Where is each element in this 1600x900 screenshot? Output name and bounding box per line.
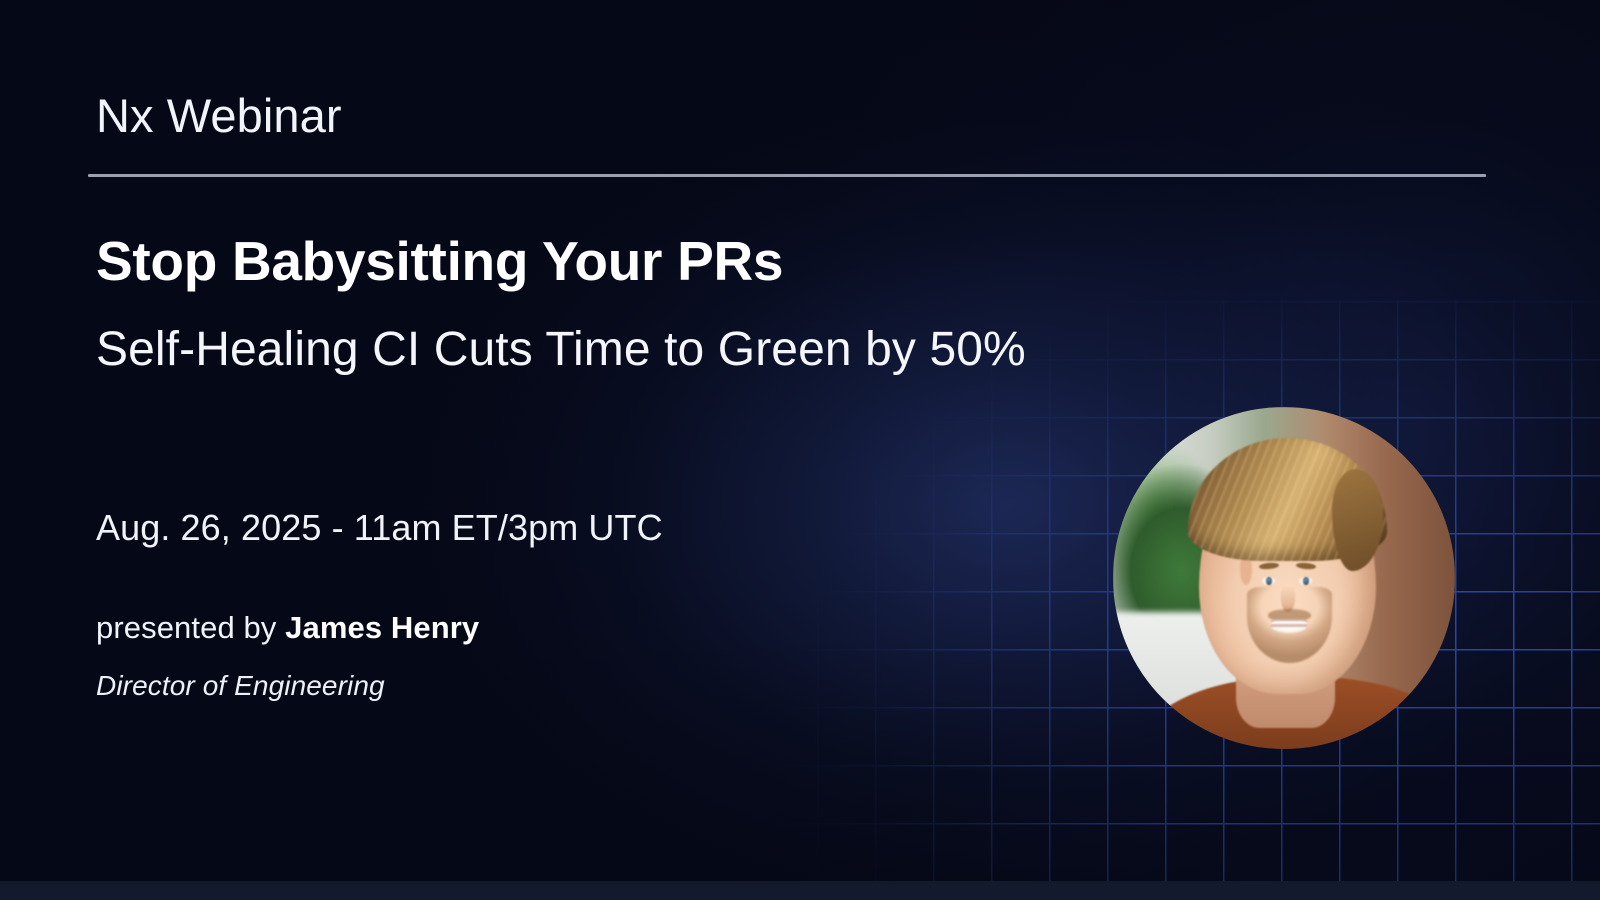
presenter-name: James Henry <box>285 610 479 645</box>
page-title: Stop Babysitting Your PRs <box>96 229 783 294</box>
avatar-eyebrow-right <box>1296 562 1316 570</box>
page-subtitle: Self-Healing CI Cuts Time to Green by 50… <box>96 314 1096 387</box>
avatar <box>1113 407 1455 749</box>
presenter-line: presented by James Henry <box>96 608 479 648</box>
content-column: Nx Webinar Stop Babysitting Your PRs Sel… <box>96 0 1106 900</box>
avatar-beard <box>1247 587 1332 662</box>
eyebrow-label: Nx Webinar <box>96 88 342 143</box>
avatar-eye-right <box>1299 577 1313 586</box>
header-divider <box>88 174 1486 177</box>
presenter-title: Director of Engineering <box>96 668 385 704</box>
presenter-prefix: presented by <box>96 610 276 645</box>
avatar-eye-left <box>1262 577 1276 586</box>
avatar-eyebrow-left <box>1259 562 1279 570</box>
webinar-promo-card: Nx Webinar Stop Babysitting Your PRs Sel… <box>0 0 1600 900</box>
avatar-hair-side-sweep <box>1332 469 1383 572</box>
event-datetime: Aug. 26, 2025 - 11am ET/3pm UTC <box>96 505 663 552</box>
avatar-photo-backdrop <box>1113 407 1455 749</box>
